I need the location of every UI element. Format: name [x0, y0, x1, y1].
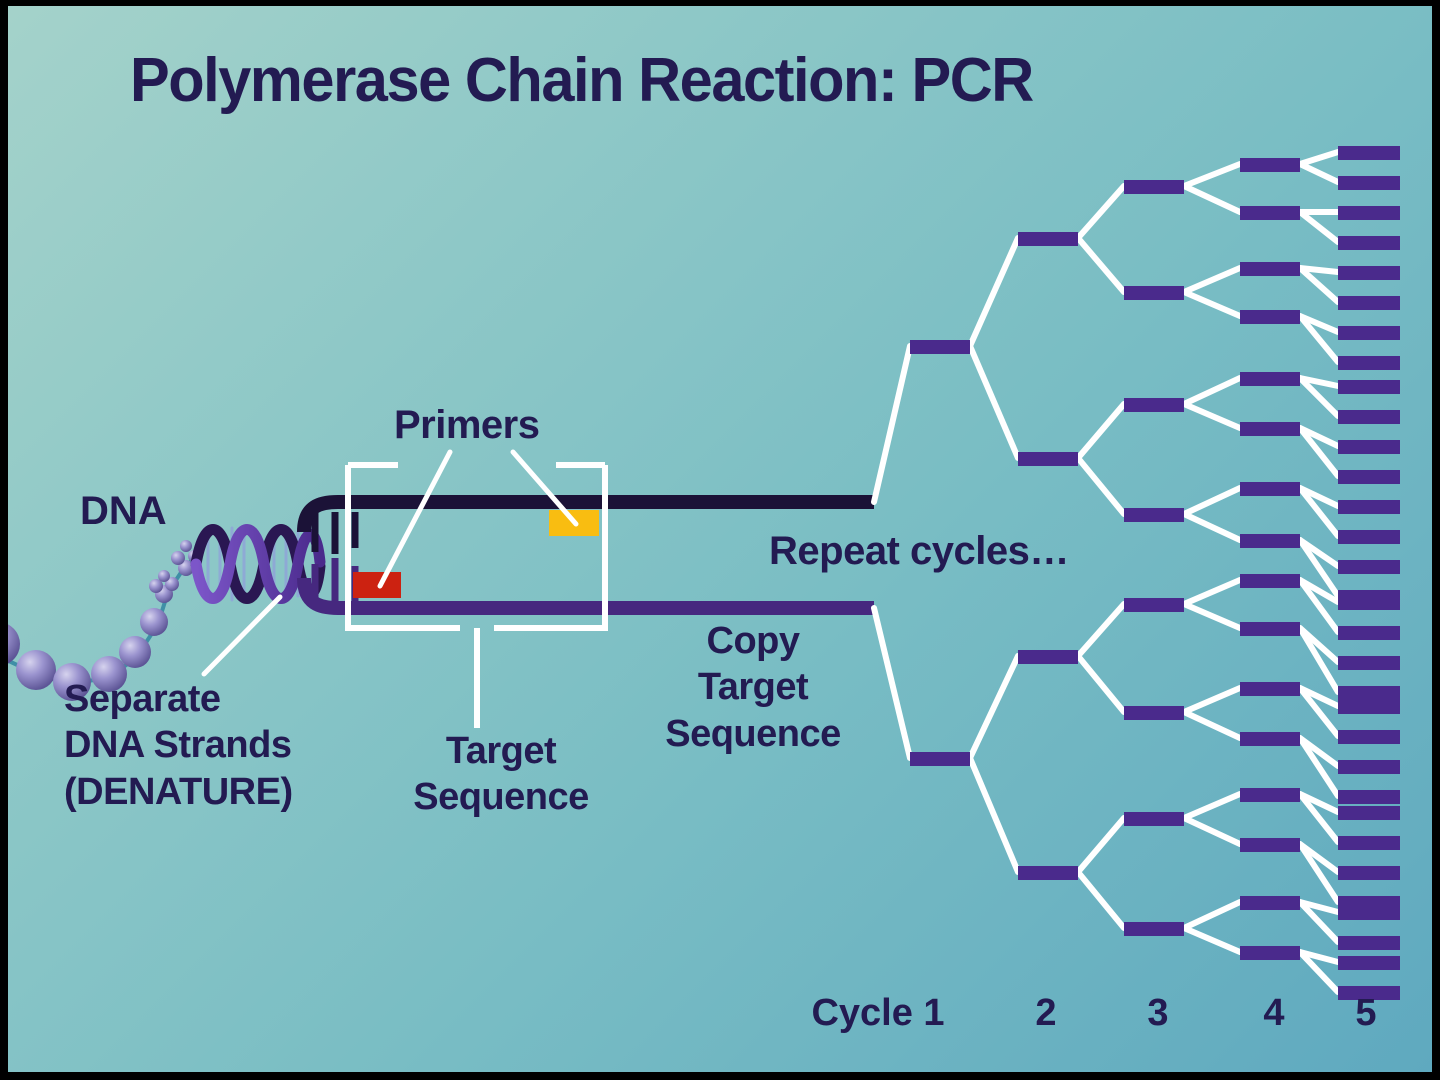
- page-title: Polymerase Chain Reaction: PCR: [130, 48, 1033, 114]
- cycle-label-3: 3: [1120, 992, 1196, 1035]
- amplicon-bars-cycle-5: [1338, 146, 1400, 1000]
- cycle-label-4: 4: [1236, 992, 1312, 1035]
- cycle-label-5: 5: [1328, 992, 1404, 1035]
- cycle-label-1: Cycle 1: [768, 992, 988, 1035]
- denature-leader-line: [204, 597, 280, 674]
- denature-label: Separate DNA Strands (DENATURE): [64, 676, 293, 815]
- slide-root: Polymerase Chain Reaction: PCR DNA Prime…: [0, 0, 1440, 1080]
- slide-canvas: Polymerase Chain Reaction: PCR DNA Prime…: [8, 6, 1432, 1072]
- primer-leader-lines: [380, 452, 576, 586]
- dna-label: DNA: [80, 490, 167, 532]
- amplicon-bars-cycle-3: [1124, 180, 1184, 936]
- diagram-artwork: [8, 6, 1432, 1072]
- primers-label: Primers: [394, 404, 539, 446]
- forward-primer-block: [353, 572, 401, 598]
- target-sequence-label: Target Sequence: [406, 728, 596, 821]
- cycle-label-2: 2: [1008, 992, 1084, 1035]
- repeat-cycles-label: Repeat cycles…: [769, 530, 1069, 572]
- amplicon-bars-cycle-4: [1240, 158, 1300, 960]
- copy-target-sequence-label: Copy Target Sequence: [638, 618, 868, 757]
